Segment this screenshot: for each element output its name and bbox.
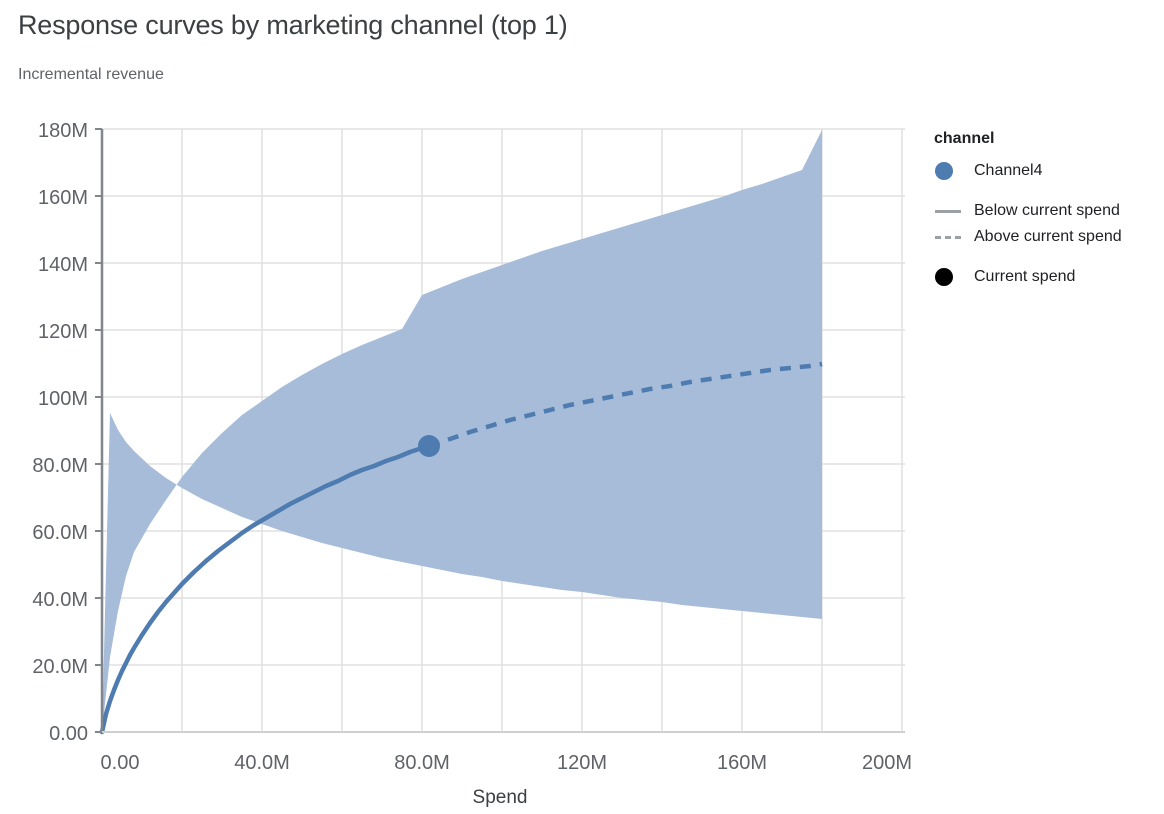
y-tick-label: 80.0M — [32, 455, 88, 477]
y-tick-label: 20.0M — [32, 656, 88, 678]
legend-item-current-spend[interactable]: Current spend — [934, 264, 1160, 290]
plot-area: 180M 160M 140M 120M 100M 80.0M 60.0M 40.… — [0, 0, 1164, 814]
circle-icon — [934, 266, 968, 288]
circle-icon — [934, 160, 968, 182]
x-tick-label: 200M — [862, 752, 912, 774]
x-axis: 0.00 40.0M 80.0M 120M 160M 200M Spend — [101, 732, 912, 808]
legend-item-label: Below current spend — [974, 202, 1120, 220]
x-tick-label: 40.0M — [234, 752, 290, 774]
y-tick-label: 100M — [38, 388, 88, 410]
confidence-band — [102, 130, 822, 732]
x-tick-label: 120M — [557, 752, 607, 774]
legend-item-label: Channel4 — [974, 162, 1043, 180]
x-tick-label: 80.0M — [394, 752, 450, 774]
legend-title: channel — [934, 130, 1160, 148]
y-tick-label: 0.00 — [49, 723, 88, 745]
legend: channel Channel4 Below current spend Abo… — [934, 130, 1160, 290]
legend-item-above-current-spend[interactable]: Above current spend — [934, 224, 1160, 250]
y-tick-label: 40.0M — [32, 589, 88, 611]
dashed-line-icon — [934, 226, 968, 248]
y-tick-label: 180M — [38, 120, 88, 142]
legend-item-label: Current spend — [974, 268, 1075, 286]
solid-line-icon — [934, 200, 968, 222]
y-tick-label: 140M — [38, 254, 88, 276]
response-curve-chart: Response curves by marketing channel (to… — [0, 0, 1164, 814]
legend-item-channel4[interactable]: Channel4 — [934, 158, 1160, 184]
y-tick-label: 160M — [38, 187, 88, 209]
current-spend-marker[interactable] — [418, 435, 440, 457]
y-tick-label: 120M — [38, 321, 88, 343]
legend-item-label: Above current spend — [974, 228, 1122, 246]
legend-item-below-current-spend[interactable]: Below current spend — [934, 198, 1160, 224]
x-tick-label: 160M — [717, 752, 767, 774]
x-axis-title: Spend — [473, 787, 528, 808]
x-tick-label: 0.00 — [101, 752, 140, 774]
y-axis: 180M 160M 140M 120M 100M 80.0M 60.0M 40.… — [32, 120, 102, 745]
y-tick-label: 60.0M — [32, 522, 88, 544]
